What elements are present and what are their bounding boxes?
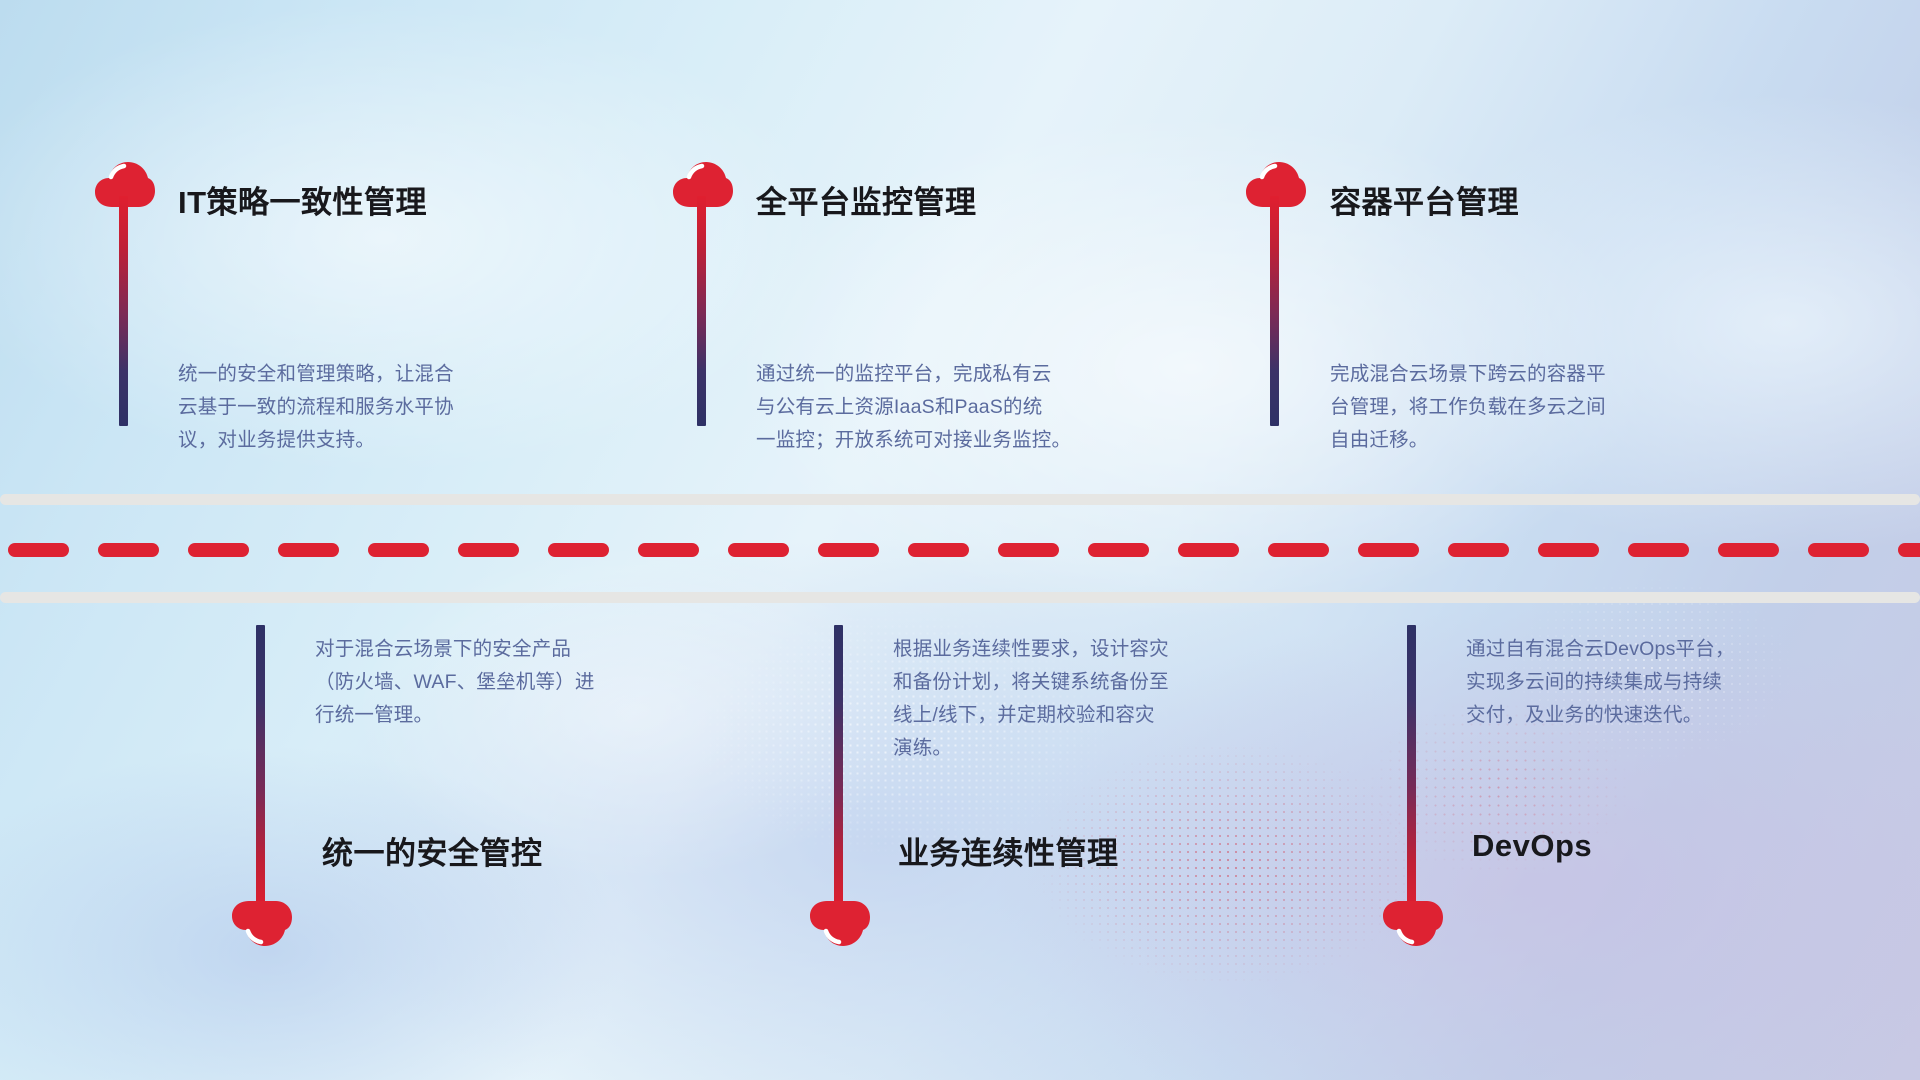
body-line: 对于混合云场景下的安全产品 — [315, 633, 735, 666]
connector-stem — [697, 196, 706, 426]
card-heading: DevOps — [1472, 828, 1592, 864]
road-dash — [908, 543, 969, 557]
body-line: 和备份计划，将关键系统备份至 — [893, 666, 1313, 699]
road-dash — [998, 543, 1059, 557]
cloud-icon — [809, 898, 871, 948]
road-dash — [1538, 543, 1599, 557]
body-line: 实现多云间的持续集成与持续 — [1466, 666, 1886, 699]
road-dash — [98, 543, 159, 557]
card-heading: 全平台监控管理 — [756, 177, 977, 222]
card-body: 通过自有混合云DevOps平台， 实现多云间的持续集成与持续 交付，及业务的快速… — [1466, 633, 1886, 732]
body-line: 根据业务连续性要求，设计容灾 — [893, 633, 1313, 666]
road-dash — [368, 543, 429, 557]
road-dash — [818, 543, 879, 557]
body-line: 与公有云上资源IaaS和PaaS的统 — [756, 391, 1196, 424]
road-dash — [548, 543, 609, 557]
road-dash — [8, 543, 69, 557]
road-dash — [188, 543, 249, 557]
road-dash — [1088, 543, 1149, 557]
connector-stem — [256, 625, 265, 913]
body-line: 议，对业务提供支持。 — [178, 424, 608, 457]
connector-stem — [119, 196, 128, 426]
body-line: 交付，及业务的快速迭代。 — [1466, 699, 1886, 732]
card-heading: 业务连续性管理 — [898, 828, 1119, 873]
card-body: 通过统一的监控平台，完成私有云 与公有云上资源IaaS和PaaS的统 一监控；开… — [756, 358, 1196, 457]
connector-stem — [1407, 625, 1416, 913]
road-dash — [1448, 543, 1509, 557]
connector-stem — [1270, 196, 1279, 426]
card-heading: 容器平台管理 — [1330, 177, 1519, 222]
card-heading: IT策略一致性管理 — [178, 177, 427, 222]
road-dash — [638, 543, 699, 557]
road-dash — [1898, 543, 1920, 557]
road-edge-top — [0, 494, 1920, 505]
cloud-icon — [231, 898, 293, 948]
body-line: 行统一管理。 — [315, 699, 735, 732]
road-dash — [458, 543, 519, 557]
body-line: 完成混合云场景下跨云的容器平 — [1330, 358, 1760, 391]
connector-stem — [834, 625, 843, 913]
card-body: 完成混合云场景下跨云的容器平 台管理，将工作负载在多云之间 自由迁移。 — [1330, 358, 1760, 457]
body-line: 通过自有混合云DevOps平台， — [1466, 633, 1886, 666]
card-heading: 统一的安全管控 — [322, 828, 543, 873]
body-line: 云基于一致的流程和服务水平协 — [178, 391, 608, 424]
card-body: 统一的安全和管理策略，让混合 云基于一致的流程和服务水平协 议，对业务提供支持。 — [178, 358, 608, 457]
cloud-icon — [1382, 898, 1444, 948]
body-line: 统一的安全和管理策略，让混合 — [178, 358, 608, 391]
road-center-dashes — [0, 543, 1920, 557]
road-dash — [728, 543, 789, 557]
road-dash — [1718, 543, 1779, 557]
road-dash — [1808, 543, 1869, 557]
body-line: 自由迁移。 — [1330, 424, 1760, 457]
road-dash — [1628, 543, 1689, 557]
body-line: 通过统一的监控平台，完成私有云 — [756, 358, 1196, 391]
road-edge-bottom — [0, 592, 1920, 603]
body-line: （防火墙、WAF、堡垒机等）进 — [315, 666, 735, 699]
body-line: 线上/线下，并定期校验和容灾 — [893, 699, 1313, 732]
body-line: 台管理，将工作负载在多云之间 — [1330, 391, 1760, 424]
card-body: 根据业务连续性要求，设计容灾 和备份计划，将关键系统备份至 线上/线下，并定期校… — [893, 633, 1313, 765]
card-body: 对于混合云场景下的安全产品 （防火墙、WAF、堡垒机等）进 行统一管理。 — [315, 633, 735, 732]
body-line: 演练。 — [893, 732, 1313, 765]
body-line: 一监控；开放系统可对接业务监控。 — [756, 424, 1196, 457]
road-dash — [1358, 543, 1419, 557]
road-dash — [1178, 543, 1239, 557]
road-dash — [1268, 543, 1329, 557]
road-dash — [278, 543, 339, 557]
